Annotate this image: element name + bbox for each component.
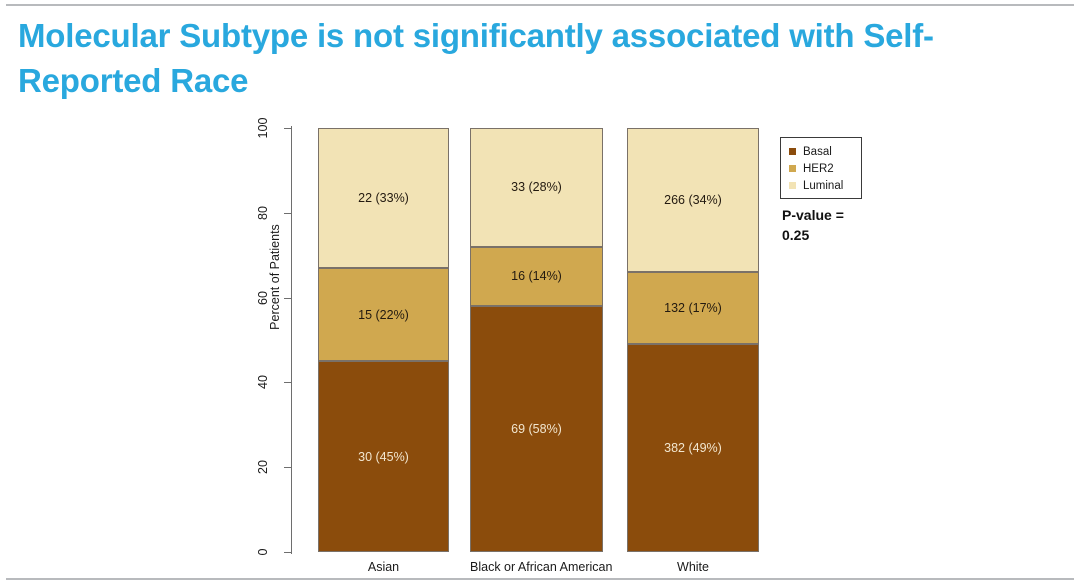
pvalue-line-2: 0.25 — [782, 225, 892, 245]
legend-swatch-icon — [789, 165, 796, 172]
x-axis-tick-label: Asian — [318, 560, 449, 574]
legend-swatch-icon — [789, 182, 796, 189]
bar-segment-label: 132 (17%) — [664, 301, 722, 315]
y-axis-tick — [284, 128, 291, 129]
stacked-bar-chart: 020406080100 Percent of Patients 30 (45%… — [0, 0, 1080, 586]
y-axis-tick-label: 0 — [248, 545, 278, 559]
legend-item-basal[interactable]: Basal — [789, 143, 861, 160]
legend-item-label: HER2 — [803, 163, 834, 175]
legend-item-label: Luminal — [803, 180, 843, 192]
bar-segment-luminal[interactable]: 22 (33%) — [318, 128, 449, 268]
bar-segment-luminal[interactable]: 33 (28%) — [470, 128, 603, 247]
y-axis-tick — [284, 382, 291, 383]
bar-segment-her2[interactable]: 15 (22%) — [318, 268, 449, 361]
bar-segment-luminal[interactable]: 266 (34%) — [627, 128, 759, 272]
plot-area: 30 (45%)15 (22%)22 (33%)69 (58%)16 (14%)… — [292, 128, 762, 552]
bar-segment-label: 69 (58%) — [511, 422, 562, 436]
x-axis-tick-label: Black or African American — [470, 560, 603, 574]
bar-segment-her2[interactable]: 132 (17%) — [627, 272, 759, 344]
legend-item-her2[interactable]: HER2 — [789, 160, 861, 177]
y-axis-tick — [284, 552, 291, 553]
legend-item-luminal[interactable]: Luminal — [789, 177, 861, 194]
y-axis-label: Percent of Patients — [268, 207, 282, 347]
bar-segment-label: 30 (45%) — [358, 450, 409, 464]
bar-segment-label: 266 (34%) — [664, 193, 722, 207]
x-axis-tick-label: White — [627, 560, 759, 574]
y-axis-tick — [284, 467, 291, 468]
bar-black-or-african-american[interactable]: 69 (58%)16 (14%)33 (28%) — [470, 128, 603, 552]
chart-legend: BasalHER2Luminal — [780, 137, 862, 199]
y-axis-tick-label: 40 — [248, 375, 278, 389]
bar-asian[interactable]: 30 (45%)15 (22%)22 (33%) — [318, 128, 449, 552]
bar-segment-label: 15 (22%) — [358, 308, 409, 322]
legend-swatch-icon — [789, 148, 796, 155]
y-axis-tick — [284, 298, 291, 299]
bar-segment-label: 22 (33%) — [358, 191, 409, 205]
bar-segment-label: 33 (28%) — [511, 180, 562, 194]
y-axis-tick-label: 100 — [248, 121, 278, 135]
bar-segment-basal[interactable]: 69 (58%) — [470, 306, 603, 552]
bar-white[interactable]: 382 (49%)132 (17%)266 (34%) — [627, 128, 759, 552]
pvalue-annotation: P-value = 0.25 — [782, 205, 892, 246]
bar-segment-label: 16 (14%) — [511, 269, 562, 283]
bar-segment-label: 382 (49%) — [664, 441, 722, 455]
legend-item-label: Basal — [803, 146, 832, 158]
bar-segment-basal[interactable]: 30 (45%) — [318, 361, 449, 552]
slide-canvas: Molecular Subtype is not significantly a… — [0, 0, 1080, 586]
bar-segment-basal[interactable]: 382 (49%) — [627, 344, 759, 552]
y-axis-tick-label: 20 — [248, 460, 278, 474]
y-axis-tick — [284, 213, 291, 214]
bar-segment-her2[interactable]: 16 (14%) — [470, 247, 603, 306]
pvalue-line-1: P-value = — [782, 205, 892, 225]
